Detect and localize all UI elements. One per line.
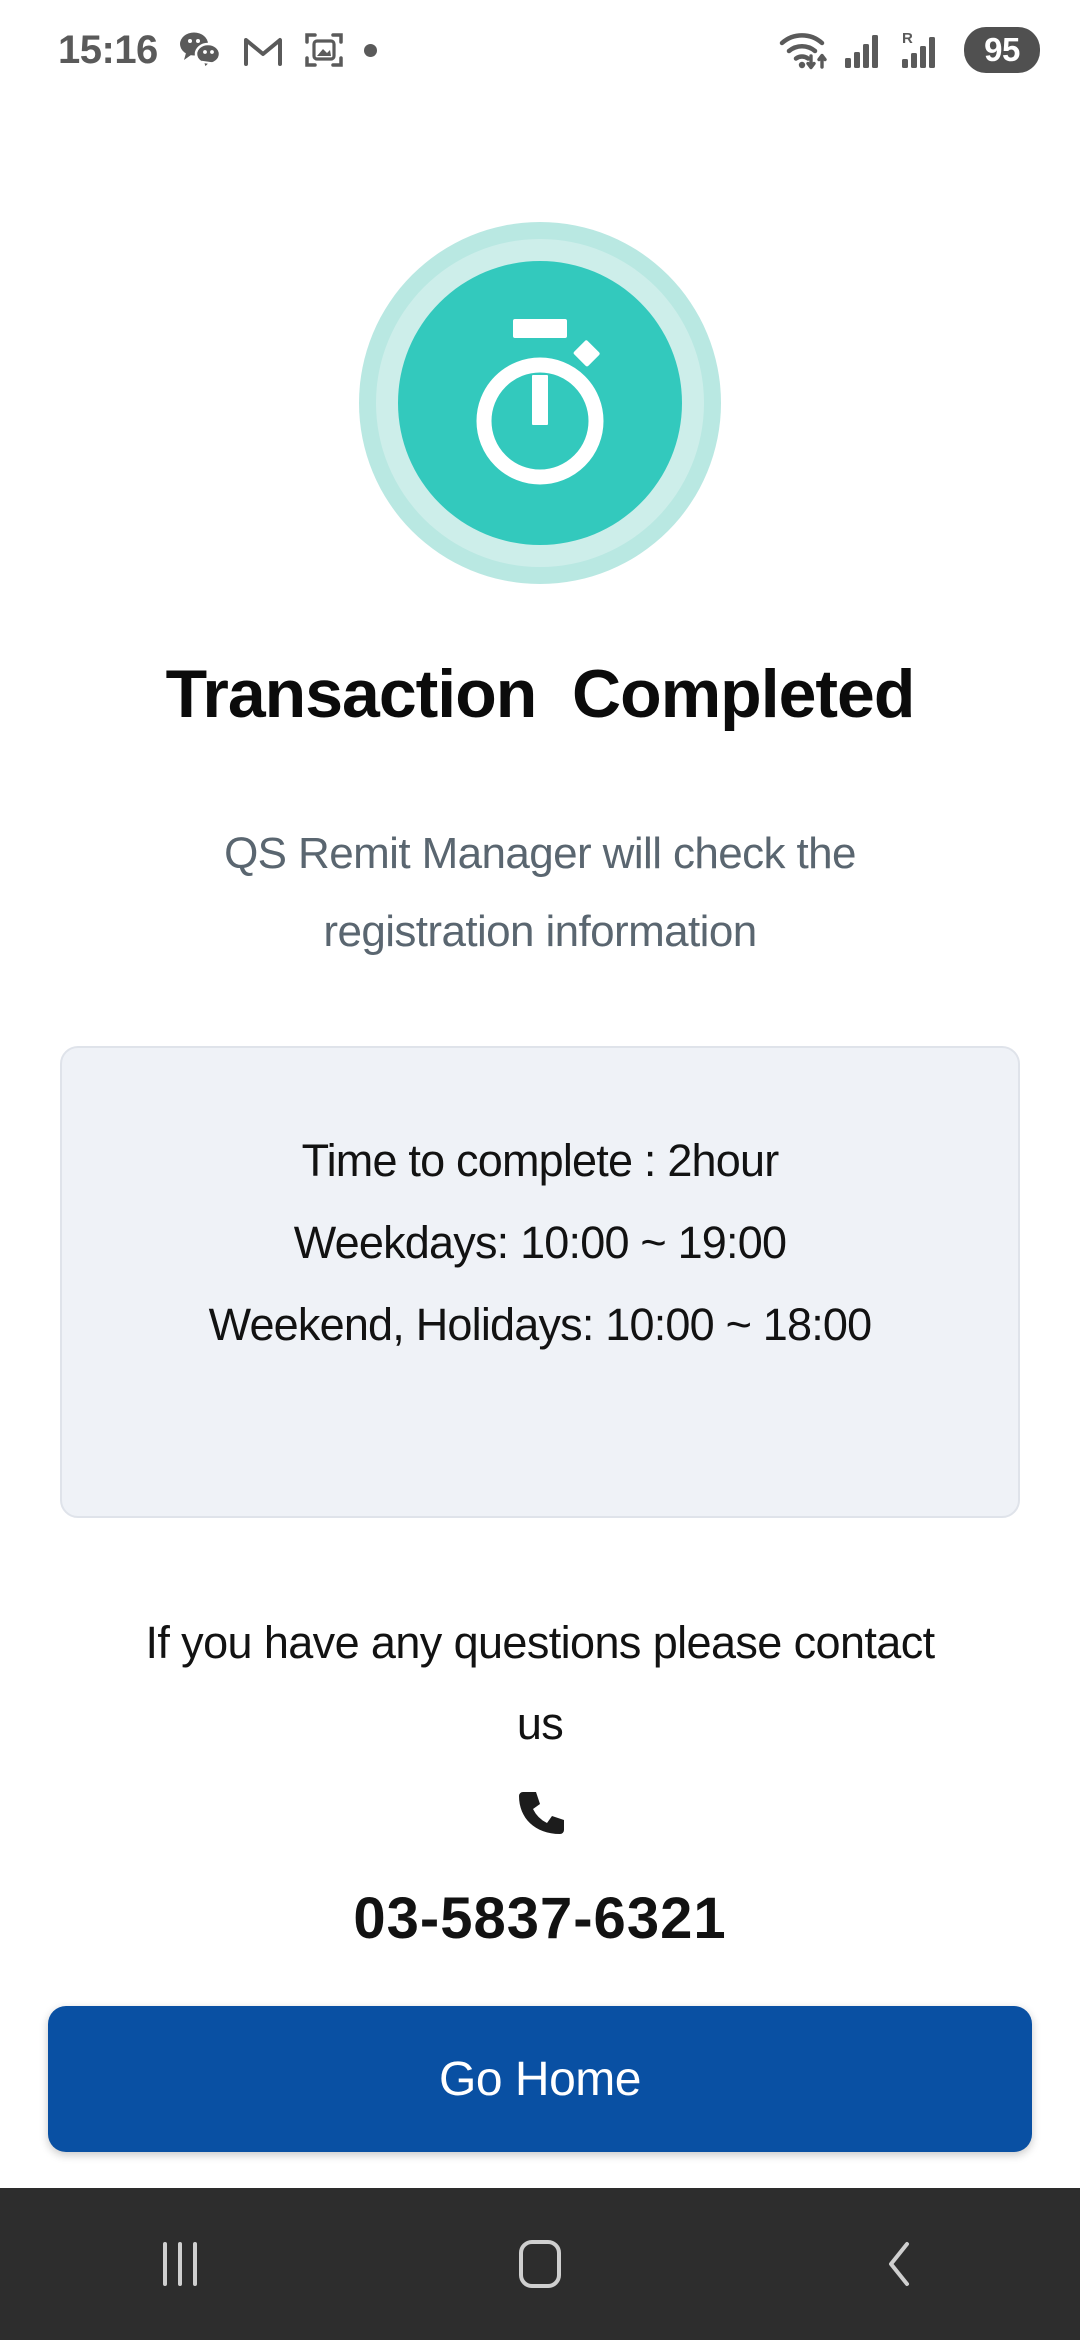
operating-hours-card: Time to complete : 2hour Weekdays: 10:00…	[60, 1046, 1020, 1518]
wifi-icon	[778, 29, 830, 71]
icon-circle	[398, 261, 682, 545]
recents-icon	[163, 2242, 197, 2286]
recents-button[interactable]	[80, 2188, 280, 2340]
contact-phone-number[interactable]: 03-5837-6321	[0, 1885, 1080, 1952]
status-clock: 15:16	[58, 28, 158, 73]
screenshot-capture-icon	[304, 30, 344, 70]
app-screen: 15:16	[0, 0, 1080, 2340]
operating-hours-text: Time to complete : 2hour Weekdays: 10:00…	[118, 1120, 962, 1366]
status-bar: 15:16	[0, 0, 1080, 100]
gmail-icon	[242, 32, 284, 68]
page-subtitle: QS Remit Manager will check the registra…	[150, 815, 930, 971]
system-navigation-bar	[0, 2188, 1080, 2340]
go-home-button[interactable]: Go Home	[48, 2006, 1032, 2152]
signal-bars-icon	[844, 30, 886, 70]
hero-illustration	[0, 222, 1080, 584]
cta-container: Go Home	[0, 1986, 1080, 2172]
back-icon	[878, 2236, 922, 2292]
stopwatch-icon	[456, 317, 624, 489]
home-icon	[519, 2240, 561, 2288]
roaming-signal-icon: R	[900, 29, 950, 71]
contact-prompt: If you have any questions please contact…	[130, 1602, 950, 1764]
status-bar-right: R 95	[778, 27, 1040, 73]
battery-level: 95	[984, 31, 1020, 69]
icon-halo-inner	[376, 239, 704, 567]
wechat-icon	[178, 30, 222, 70]
back-button[interactable]	[800, 2188, 1000, 2340]
icon-halo-outer	[359, 222, 721, 584]
phone-icon-container	[0, 1786, 1080, 1840]
svg-text:R: R	[902, 30, 913, 47]
notification-dot-icon	[364, 44, 377, 57]
battery-indicator: 95	[964, 27, 1040, 73]
page-title: Transaction Completed	[0, 655, 1080, 733]
phone-icon	[513, 1786, 567, 1840]
status-bar-left: 15:16	[58, 28, 377, 73]
home-button[interactable]	[440, 2188, 640, 2340]
